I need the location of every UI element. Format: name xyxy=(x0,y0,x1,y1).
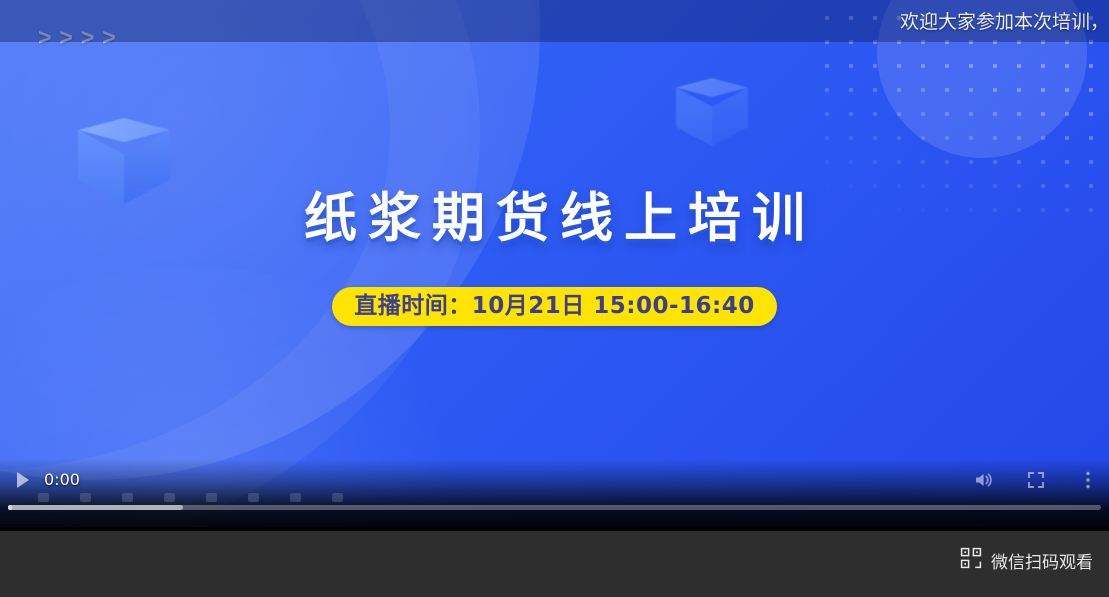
more-options-icon[interactable] xyxy=(1073,467,1103,493)
video-stage[interactable]: >>>> 纸浆期货线上培训 直播时间：10月21日 15:00-16:40 欢迎… xyxy=(0,0,1109,531)
play-button[interactable] xyxy=(12,469,34,491)
right-controls-group xyxy=(969,467,1103,493)
live-time-badge-wrapper: 直播时间：10月21日 15:00-16:40 xyxy=(0,287,1109,326)
cube-decoration-icon xyxy=(676,78,748,146)
fullscreen-icon[interactable] xyxy=(1021,467,1051,493)
video-player-page: >>>> 纸浆期货线上培训 直播时间：10月21日 15:00-16:40 欢迎… xyxy=(0,0,1109,597)
page-footer: 微信扫码观看 xyxy=(0,531,1109,597)
current-time-label: 0:00 xyxy=(44,470,80,489)
progress-scrubber[interactable] xyxy=(8,505,1101,510)
chapter-markers xyxy=(8,493,348,505)
wechat-scan-button[interactable]: 微信扫码观看 xyxy=(960,547,1093,574)
wechat-scan-label: 微信扫码观看 xyxy=(991,548,1093,573)
video-poster-image: >>>> 纸浆期货线上培训 直播时间：10月21日 15:00-16:40 xyxy=(0,0,1109,527)
volume-icon[interactable] xyxy=(969,467,999,493)
announcement-marquee-text: 欢迎大家参加本次培训， xyxy=(900,7,1109,34)
poster-title: 纸浆期货线上培训 xyxy=(0,192,1109,245)
video-controls-bar: 0:00 xyxy=(0,459,1109,531)
announcement-marquee-bar: 欢迎大家参加本次培训， xyxy=(0,0,1109,42)
buffered-range xyxy=(8,505,183,510)
live-time-badge: 直播时间：10月21日 15:00-16:40 xyxy=(332,287,777,326)
qr-code-icon xyxy=(960,547,982,574)
